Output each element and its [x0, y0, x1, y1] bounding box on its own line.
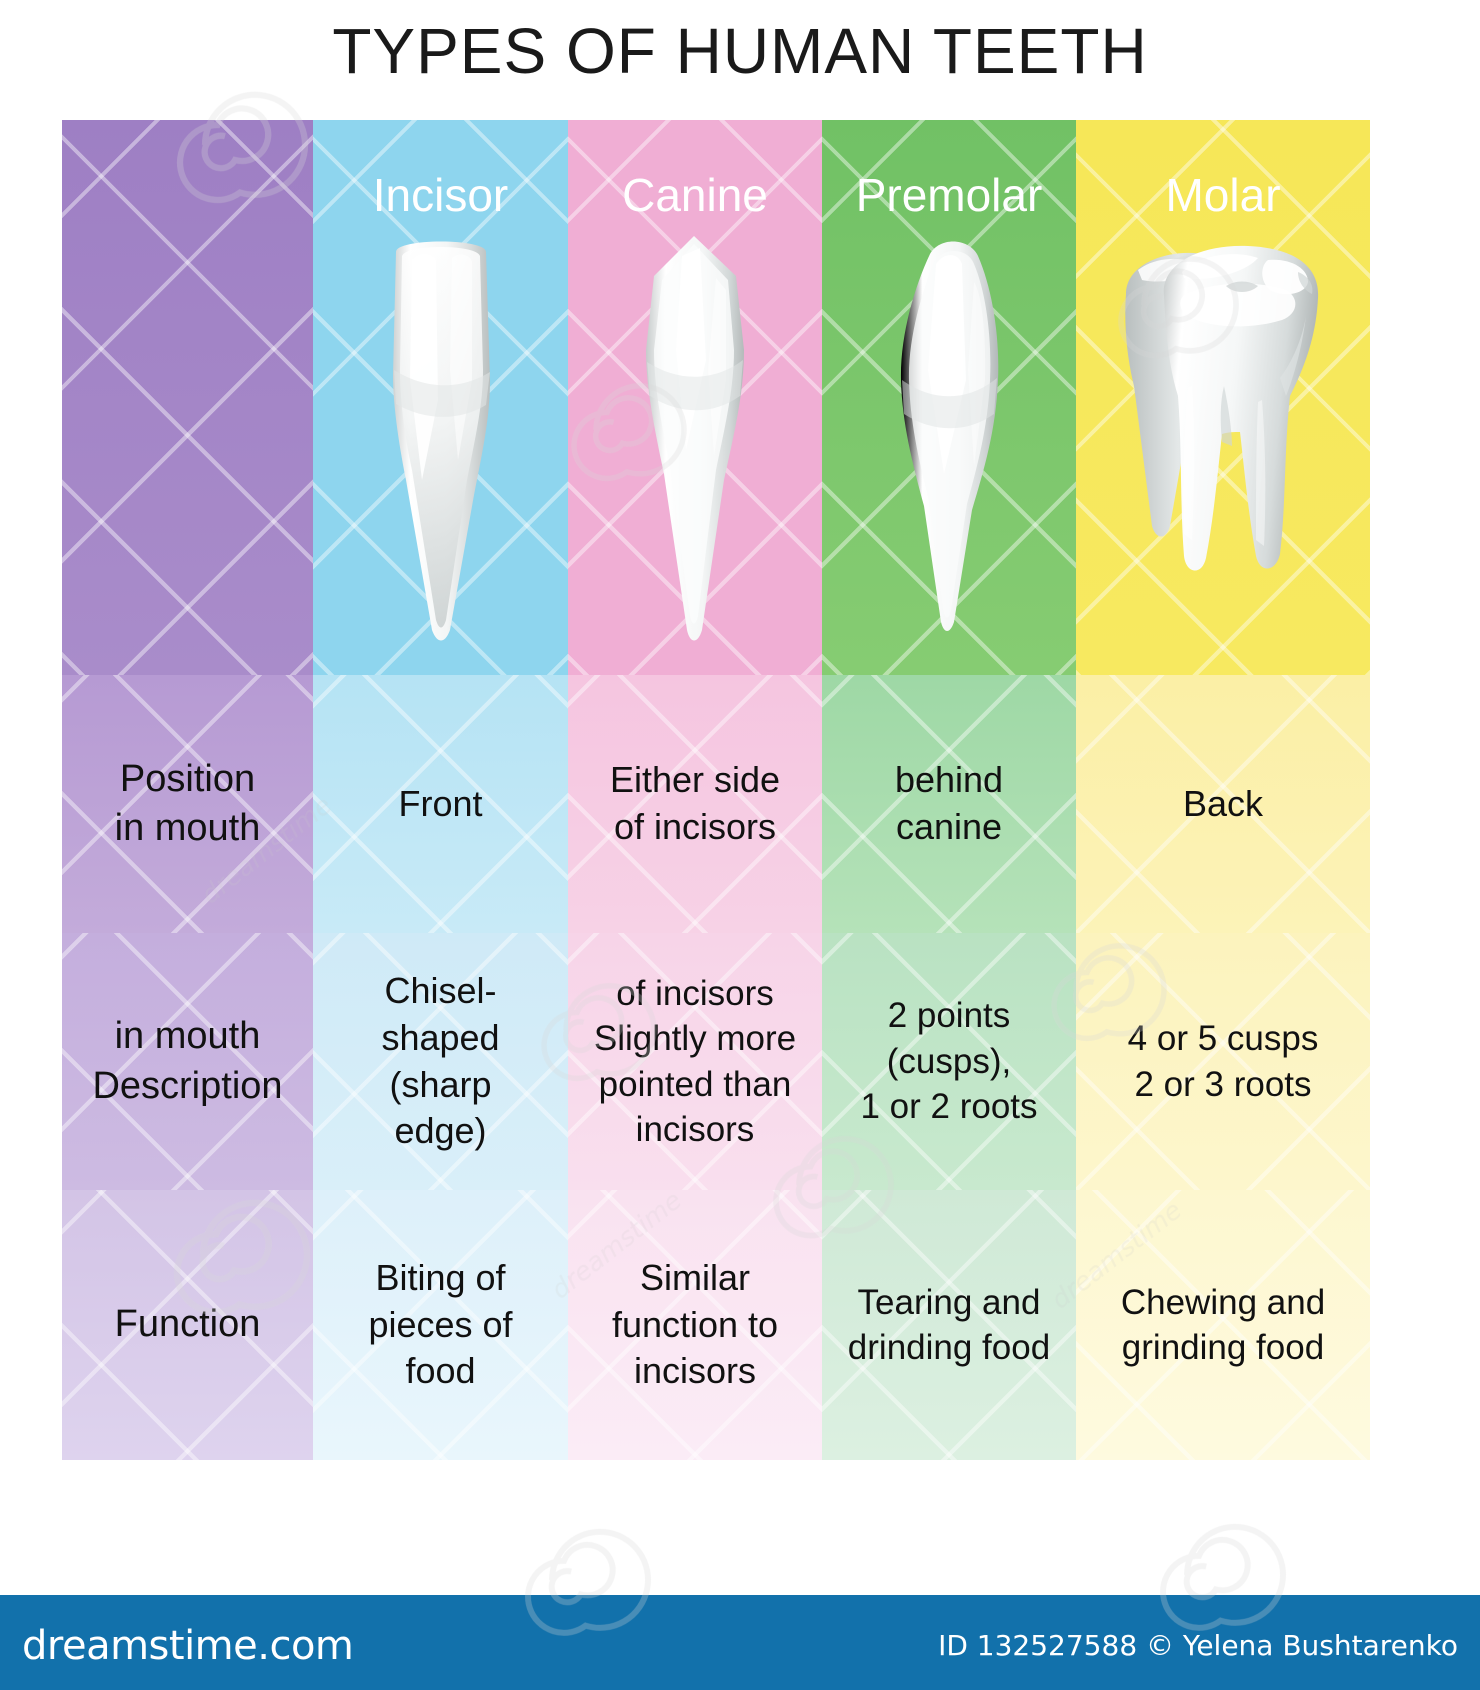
row-label-function: Function	[62, 1190, 313, 1460]
page-title: TYPES OF HUMAN TEETH	[0, 14, 1480, 88]
row-label-text: in mouth Description	[92, 1012, 282, 1111]
cell-function-canine: Similar function to incisors	[568, 1190, 822, 1460]
cell-function-molar: Chewing and grinding food	[1076, 1190, 1370, 1460]
column-header-incisor: Incisor	[313, 120, 568, 675]
dreamstime-logo: dreamstime.com	[22, 1623, 353, 1669]
premolar-tooth-icon	[874, 230, 1024, 650]
cell-text: Chewing and grinding food	[1115, 1280, 1331, 1371]
cell-position-canine: Either side of incisors	[568, 675, 822, 933]
incisor-tooth-illustration	[313, 230, 568, 675]
cell-text: 4 or 5 cusps 2 or 3 roots	[1122, 1016, 1325, 1107]
column-header-molar: Molar	[1076, 120, 1370, 675]
cell-text: Tearing and drinding food	[842, 1280, 1056, 1371]
column-header-label: Molar	[1076, 172, 1370, 218]
cell-text: of incisors Slightly more pointed than i…	[588, 971, 802, 1153]
canine-tooth-icon	[620, 230, 770, 650]
cell-text: 2 points (cusps), 1 or 2 roots	[854, 993, 1043, 1130]
cell-text: Front	[392, 781, 488, 828]
cell-description-molar: 4 or 5 cusps 2 or 3 roots	[1076, 933, 1370, 1190]
incisor-tooth-icon	[366, 230, 516, 650]
cell-text: Chisel- shaped (sharp edge)	[375, 968, 505, 1155]
cell-position-premolar: behind canine	[822, 675, 1076, 933]
cell-function-premolar: Tearing and drinding food	[822, 1190, 1076, 1460]
cell-text: behind canine	[889, 757, 1009, 851]
cell-text: Back	[1177, 781, 1269, 828]
row-label-text: Position in mouth	[115, 755, 261, 854]
table-corner-cell	[62, 120, 313, 675]
molar-tooth-icon	[1108, 236, 1338, 596]
cell-function-incisor: Biting of pieces of food	[313, 1190, 568, 1460]
column-header-label: Canine	[568, 172, 822, 218]
canine-tooth-illustration	[568, 230, 822, 675]
cell-text: Similar function to incisors	[606, 1255, 784, 1395]
row-label-text: Function	[115, 1300, 261, 1349]
dreamstime-logo-text: dreamstime.com	[22, 1623, 353, 1669]
column-header-premolar: Premolar	[822, 120, 1076, 675]
row-label-position: Position in mouth	[62, 675, 313, 933]
row-label-description: in mouth Description	[62, 933, 313, 1190]
cell-description-canine: of incisors Slightly more pointed than i…	[568, 933, 822, 1190]
column-header-label: Incisor	[313, 172, 568, 218]
cell-position-molar: Back	[1076, 675, 1370, 933]
image-credit: ID 132527588 © Yelena Bushtarenko	[938, 1629, 1458, 1662]
cell-position-incisor: Front	[313, 675, 568, 933]
teeth-comparison-table: Incisor	[62, 120, 1370, 1460]
cell-description-premolar: 2 points (cusps), 1 or 2 roots	[822, 933, 1076, 1190]
cell-text: Biting of pieces of food	[362, 1255, 518, 1395]
footer-bar: dreamstime.com ID 132527588 © Yelena Bus…	[0, 1595, 1480, 1690]
cell-description-incisor: Chisel- shaped (sharp edge)	[313, 933, 568, 1190]
column-header-canine: Canine	[568, 120, 822, 675]
column-header-label: Premolar	[822, 172, 1076, 218]
molar-tooth-illustration	[1076, 230, 1370, 675]
cell-text: Either side of incisors	[604, 757, 786, 851]
premolar-tooth-illustration	[822, 230, 1076, 675]
